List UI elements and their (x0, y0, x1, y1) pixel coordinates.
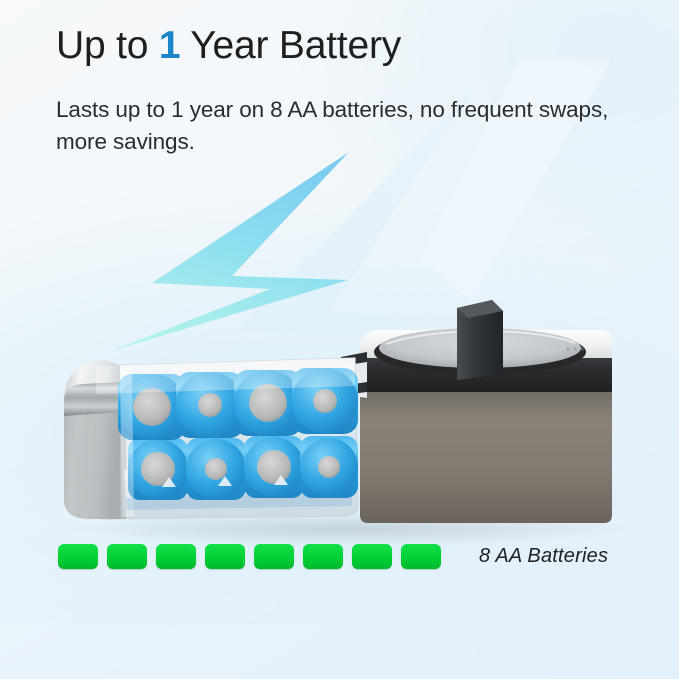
battery-meter-segment (107, 544, 147, 569)
battery-meter (58, 544, 441, 569)
product-image (0, 0, 679, 679)
battery-cell (244, 436, 304, 498)
device-left-cap-shade (64, 412, 126, 519)
battery-meter-segment (303, 544, 343, 569)
battery-meter-segment (254, 544, 294, 569)
battery-cell (300, 436, 358, 498)
status-indicator-dots (566, 347, 583, 350)
device-body-lower (360, 390, 612, 523)
battery-meter-segment (401, 544, 441, 569)
battery-meter-segment (156, 544, 196, 569)
battery-meter-segment (205, 544, 245, 569)
battery-cell (186, 438, 246, 500)
battery-meter-segment (58, 544, 98, 569)
battery-meter-label: 8 AA Batteries (479, 544, 608, 569)
battery-cell (128, 438, 188, 500)
battery-row-bottom (128, 436, 358, 500)
battery-meter-segment (352, 544, 392, 569)
compartment-glass-edge-left (120, 368, 134, 517)
